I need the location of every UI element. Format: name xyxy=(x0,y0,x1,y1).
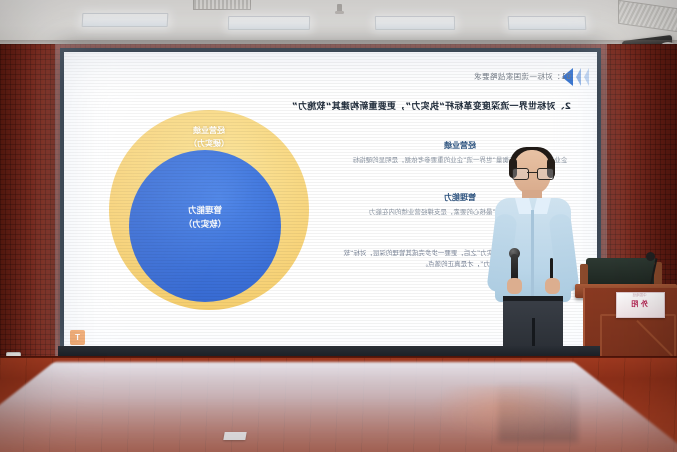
presenter-hand-right xyxy=(545,278,560,294)
slide-header: 01：对标一流国家战略要求 xyxy=(76,60,585,84)
paper-on-floor xyxy=(223,432,246,440)
air-vent-icon xyxy=(193,0,251,10)
presenter-shirt-placket xyxy=(531,210,534,296)
venn-inner-label-line2: （软实力） xyxy=(129,218,281,232)
slide-eyebrow: 01：对标一流国家战略要求 xyxy=(474,71,571,82)
sprinkler-icon xyxy=(337,4,342,13)
podium-microphone-icon xyxy=(646,252,655,261)
venn-outer-label: 经营业绩 （硬实力） xyxy=(109,124,309,150)
venn-outer-label-line1: 经营业绩 xyxy=(109,124,309,137)
venn-inner-label: 管理能力 （软实力） xyxy=(129,204,281,232)
ceiling-light-3 xyxy=(375,16,455,30)
slide-watermark-logo: T xyxy=(70,330,85,345)
wall-left-column xyxy=(0,44,58,360)
podium-name-card-subtext: 中国电信 xyxy=(616,293,663,298)
floor-presenter-reflection xyxy=(498,378,578,442)
venn-inner-label-line1: 管理能力 xyxy=(129,204,281,218)
ceiling-light-1 xyxy=(82,13,169,27)
venn-outer-label-line2: （硬实力） xyxy=(109,137,309,150)
presenter-belt xyxy=(503,296,563,301)
slide-title: 2、对标世界一流深度变革标杆“执实力”，更要重新构建其“软施力” xyxy=(101,100,571,114)
ceiling-light-4 xyxy=(508,16,587,30)
glasses-icon xyxy=(512,168,552,178)
presenter-hand-left xyxy=(507,278,522,294)
podium-name-card-text: 外 阳 xyxy=(616,299,663,309)
conference-room-photo: 01：对标一流国家战略要求 2、对标世界一流深度变革标杆“执实力”，更要重新构建… xyxy=(0,0,677,452)
ceiling-light-2 xyxy=(228,16,310,30)
